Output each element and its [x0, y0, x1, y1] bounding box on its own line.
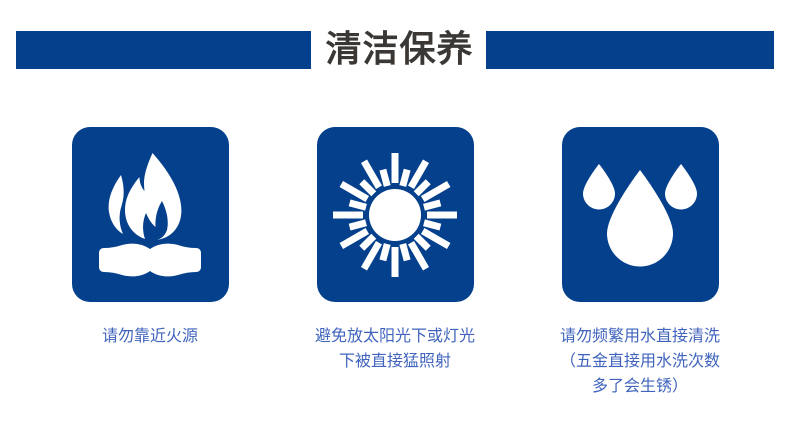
- icon-box-campfire: [72, 127, 229, 302]
- care-instruction-cards: 请勿靠近火源: [0, 127, 790, 398]
- card-caption: 请勿靠近火源: [102, 323, 198, 348]
- header-bar-right: [486, 31, 774, 69]
- card-no-fire: 请勿靠近火源: [28, 127, 273, 398]
- page-title: 清洁保养: [325, 32, 473, 68]
- card-no-water-wash: 请勿频繁用水直接清洗 （五金直接用水洗次数 多了会生锈）: [518, 127, 763, 398]
- card-no-sunlight: 避免放太阳光下或灯光 下被直接猛照射: [273, 127, 518, 398]
- header-bar-left: [16, 31, 311, 69]
- water-drops-icon: [580, 156, 700, 274]
- page-header: 清洁保养: [0, 0, 790, 100]
- icon-box-water-drops: [562, 127, 719, 302]
- campfire-icon: [95, 151, 205, 279]
- icon-box-sun: [317, 127, 474, 302]
- sun-icon: [331, 151, 459, 279]
- card-caption: 避免放太阳光下或灯光 下被直接猛照射: [315, 323, 475, 373]
- card-caption: 请勿频繁用水直接清洗 （五金直接用水洗次数 多了会生锈）: [560, 323, 720, 398]
